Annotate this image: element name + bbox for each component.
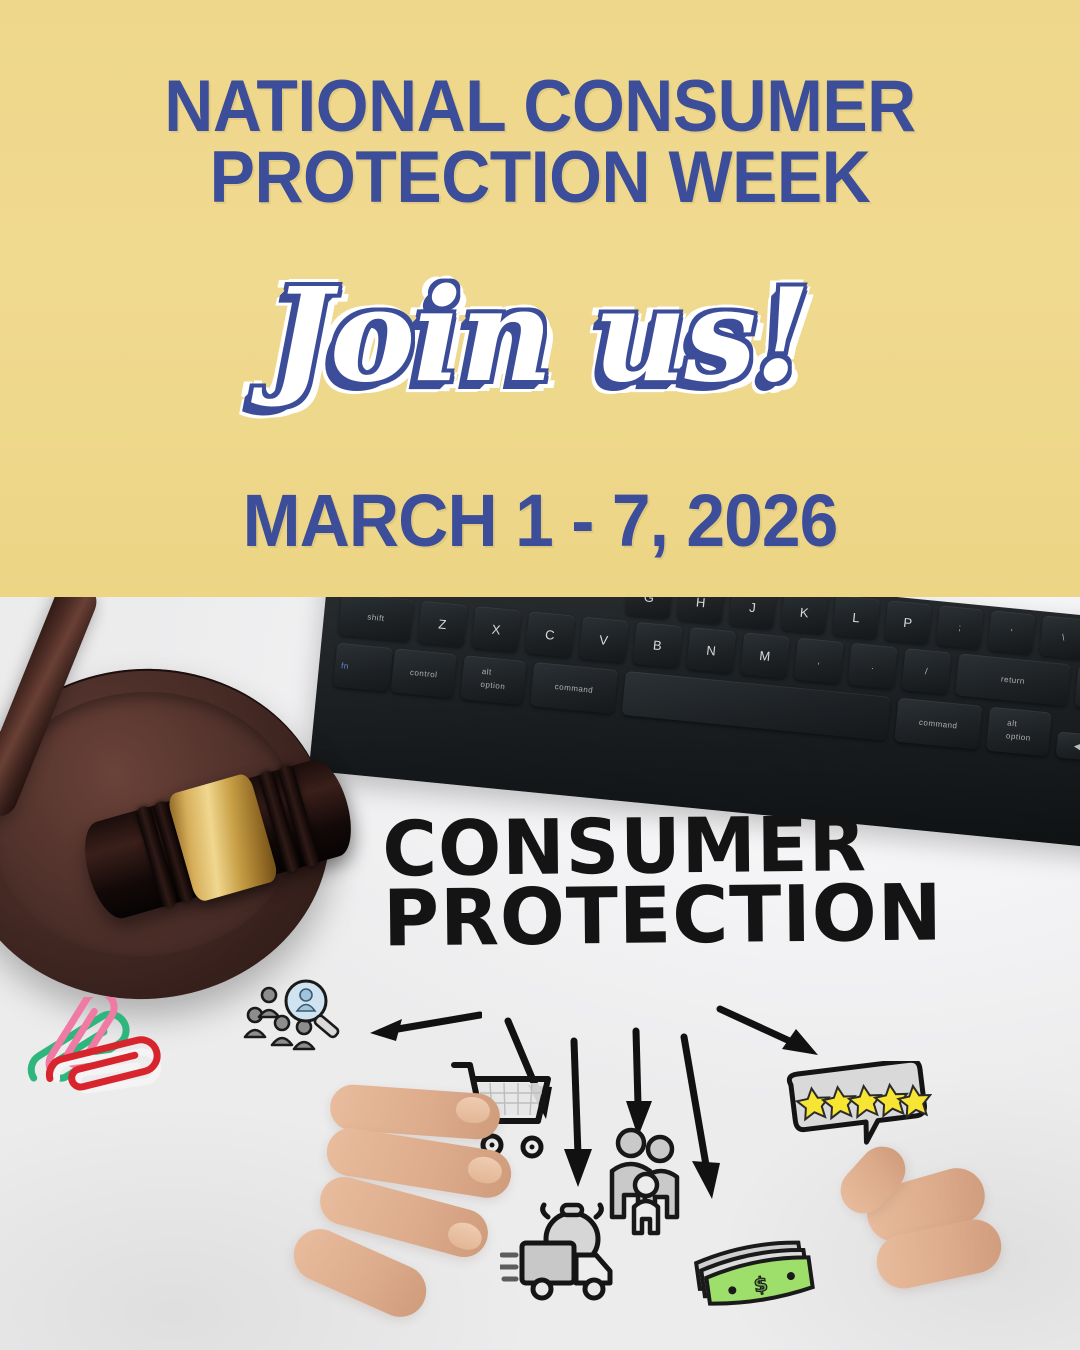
arrow-to-rating-icon (716, 1003, 826, 1063)
key-semicolon: ; (936, 605, 984, 649)
money-icon: $ (690, 1229, 820, 1315)
key-quote: ' (988, 610, 1036, 654)
key-comma: , (794, 638, 844, 684)
key-C: C (525, 611, 575, 657)
key-arrow-left: ◀ (1056, 731, 1080, 761)
headline-line-2: PROTECTION WEEK (38, 143, 1042, 214)
key-P: P (884, 600, 932, 644)
key-K: K (781, 597, 829, 634)
arrow-to-people-icon (362, 1005, 482, 1053)
person-figure (272, 1016, 292, 1045)
key-option-right: altoption (986, 707, 1052, 757)
page-title: NATIONAL CONSUMER PROTECTION WEEK (38, 72, 1042, 214)
key-B: B (633, 622, 683, 668)
join-us-text: Join us! (257, 272, 823, 400)
key-Z: Z (418, 601, 468, 647)
headline-line-1: NATIONAL CONSUMER (164, 66, 915, 147)
key-slash: / (901, 648, 951, 694)
event-dateline: MARCH 1 - 7, 2026 (32, 478, 1047, 563)
people-magnifier-icon (240, 975, 350, 1057)
key-control: control (391, 648, 457, 698)
key-command-right: command (894, 698, 982, 750)
key-backslash: \ (1039, 615, 1080, 659)
sketch-title: CONSUMER PROTECTION (382, 810, 844, 957)
sketch-title-line-2: PROTECTION (383, 879, 844, 956)
key-L: L (832, 597, 880, 639)
star-rating-bubble-icon (782, 1061, 932, 1161)
key-X: X (471, 606, 521, 652)
arrow-to-truck-icon (556, 1037, 600, 1197)
yellow-banner: NATIONAL CONSUMER PROTECTION WEEK Join u… (0, 0, 1080, 597)
key-J: J (729, 597, 777, 629)
key-M: M (740, 632, 790, 678)
key-period: . (848, 643, 898, 689)
magnifier-glass (286, 981, 340, 1039)
delivery-truck-clock-icon (500, 1197, 640, 1307)
photo-area: G H J K L P ; ' \ delete shift Z X C V B… (0, 597, 1080, 1350)
paperclip-cluster (4, 997, 204, 1157)
key-command-left: command (530, 662, 618, 714)
poster-canvas: NATIONAL CONSUMER PROTECTION WEEK Join u… (0, 0, 1080, 1350)
key-V: V (579, 616, 629, 662)
key-option-left: altoption (460, 655, 526, 705)
key-shift-left: shift (338, 597, 414, 642)
person-figure (294, 1020, 314, 1049)
person-figure (259, 988, 279, 1017)
key-N: N (686, 627, 736, 673)
join-us-wrapper: Join us! (0, 272, 1080, 447)
key-fn: fn (333, 643, 393, 692)
key-H: H (677, 597, 725, 624)
